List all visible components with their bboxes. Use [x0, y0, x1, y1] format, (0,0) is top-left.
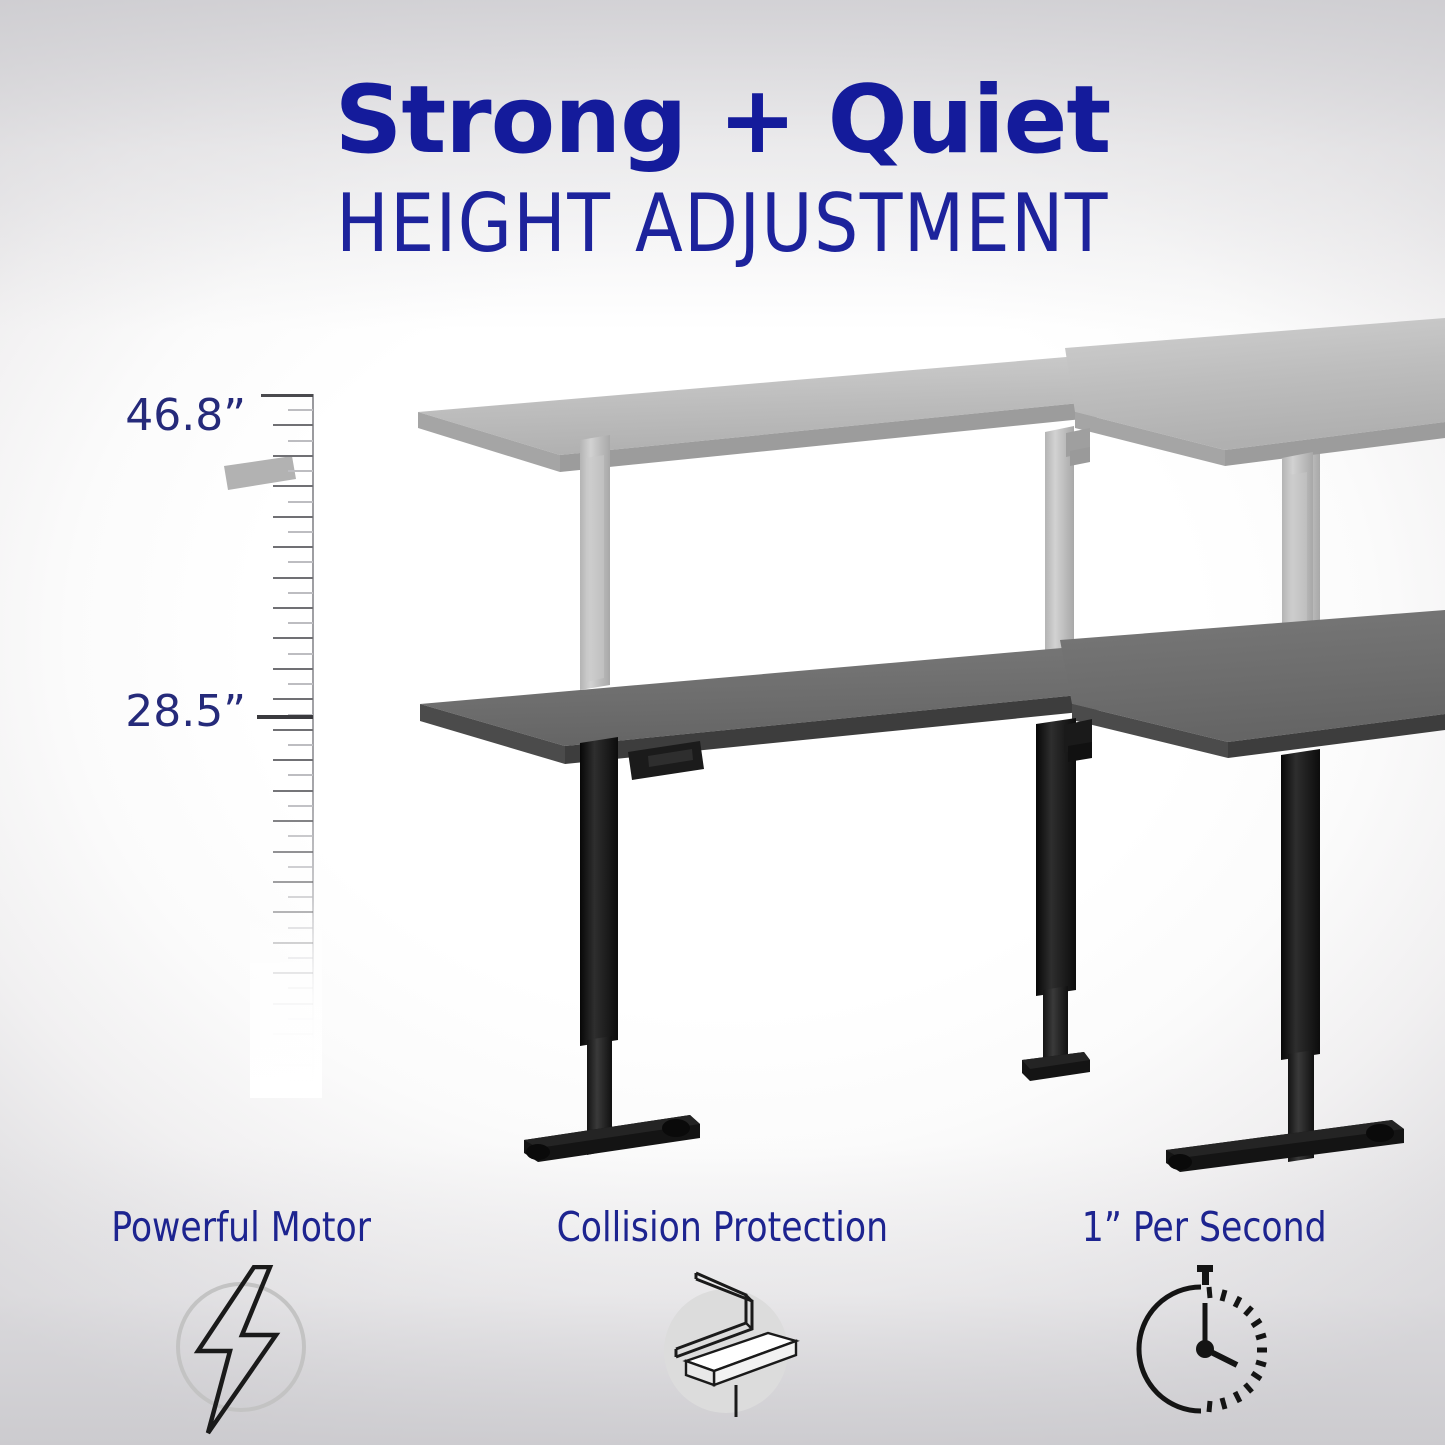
- ruler-tick: [273, 424, 313, 426]
- ruler-tick-max-height: [261, 394, 313, 397]
- ruler-tick: [288, 501, 313, 503]
- ruler-tick: [288, 409, 313, 411]
- ruler-tick-min-height: [257, 715, 313, 719]
- ruler-tick: [273, 820, 313, 822]
- ruler-tick: [288, 835, 313, 837]
- ruler-tick: [288, 592, 313, 594]
- feature-collision-protection: Collision Protection: [482, 1195, 964, 1445]
- ruler-tick: [288, 622, 313, 624]
- ruler-tick: [288, 774, 313, 776]
- header-block: Strong + Quiet HEIGHT ADJUSTMENT: [0, 74, 1445, 264]
- feature-label-speed: 1” Per Second: [1082, 1203, 1327, 1251]
- ruler-tick: [288, 653, 313, 655]
- ruler-tick: [273, 668, 313, 670]
- ruler-tick: [288, 470, 313, 472]
- ruler-tick: [288, 987, 313, 989]
- ruler-tick: [273, 1064, 313, 1066]
- min-height-label: 28.5”: [106, 686, 246, 737]
- ruler-tick: [273, 972, 313, 974]
- ruler-tick: [273, 729, 313, 731]
- infographic-canvas: Strong + Quiet HEIGHT ADJUSTMENT: [0, 0, 1445, 1445]
- ruler-tick: [273, 759, 313, 761]
- ruler-tick: [288, 927, 313, 929]
- feature-label-powerful-motor: Powerful Motor: [111, 1203, 371, 1251]
- ruler-tick: [273, 790, 313, 792]
- feature-label-collision-protection: Collision Protection: [557, 1203, 888, 1251]
- ruler-tick: [273, 607, 313, 609]
- ruler-tick: [288, 1018, 313, 1020]
- ruler-tick: [288, 683, 313, 685]
- lowered-desk-right-leg: [1166, 749, 1404, 1172]
- ruler-tick: [273, 516, 313, 518]
- lowered-desk-left-leg: [524, 737, 700, 1162]
- ruler-tick: [273, 637, 313, 639]
- raised-desk-left-leg: [580, 435, 610, 690]
- ruler-tick: [288, 896, 313, 898]
- lowered-desk-corner-leg: [1022, 718, 1092, 1081]
- ruler-tick: [273, 1033, 313, 1035]
- feature-powerful-motor: Powerful Motor: [0, 1195, 482, 1445]
- lowered-desk-group: [420, 610, 1445, 1172]
- max-height-label: 46.8”: [106, 390, 246, 441]
- ruler-tick: [288, 1079, 313, 1081]
- feature-row: Powerful Motor Collision Protection: [0, 1195, 1445, 1445]
- ruler-tick: [273, 546, 313, 548]
- page-subtitle: HEIGHT ADJUSTMENT: [22, 184, 1424, 264]
- ruler-tick: [273, 455, 313, 457]
- ruler-tick: [288, 805, 313, 807]
- ruler-tick: [288, 957, 313, 959]
- page-title: Strong + Quiet: [0, 74, 1445, 168]
- ruler-tick: [288, 561, 313, 563]
- ruler-tick: [288, 1048, 313, 1050]
- collision-surfaces-icon: [628, 1265, 818, 1437]
- ruler-tick: [288, 744, 313, 746]
- ruler-tick: [273, 577, 313, 579]
- ruler-tick: [288, 866, 313, 868]
- ruler-tick: [273, 1003, 313, 1005]
- ruler-tick: [273, 911, 313, 913]
- lightning-bolt-icon: [146, 1265, 336, 1437]
- ruler-tick: [273, 942, 313, 944]
- stopwatch-icon: [1109, 1265, 1299, 1437]
- ruler-tick: [273, 485, 313, 487]
- ruler-tick: [273, 851, 313, 853]
- feature-speed: 1” Per Second: [963, 1195, 1445, 1445]
- ruler-tick: [273, 881, 313, 883]
- ruler-tick: [273, 698, 313, 700]
- ruler-tick: [288, 440, 313, 442]
- height-ruler: [256, 394, 314, 1094]
- ruler-tick: [288, 531, 313, 533]
